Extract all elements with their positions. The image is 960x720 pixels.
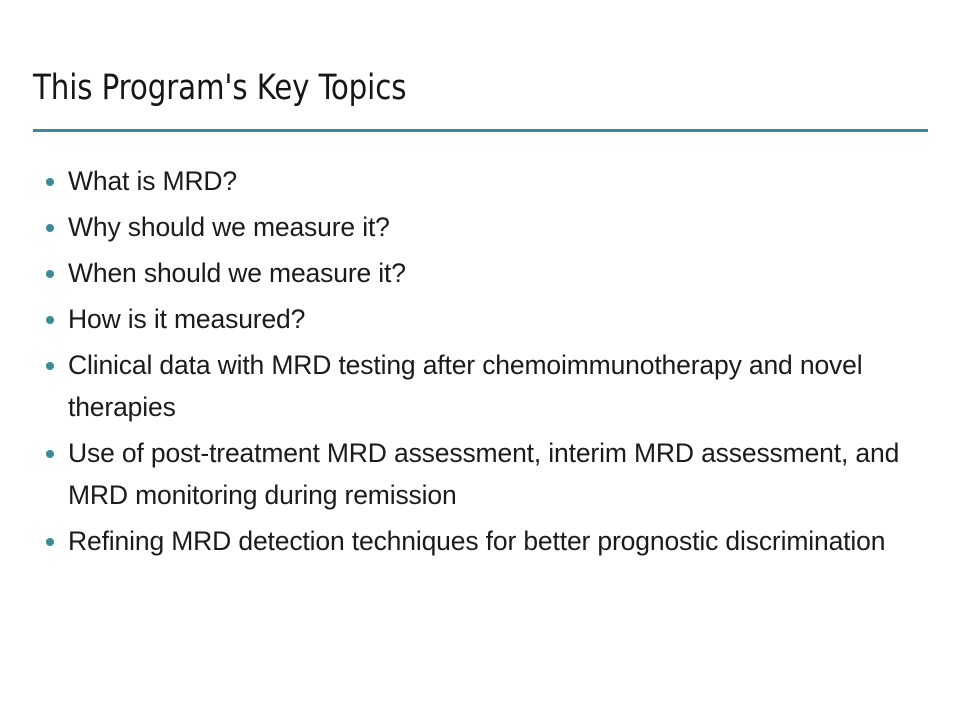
- list-item: Why should we measure it?: [40, 206, 920, 248]
- title-underline-rule: [33, 129, 928, 132]
- bullet-list: What is MRD? Why should we measure it? W…: [40, 160, 920, 566]
- title-block: This Program's Key Topics: [33, 66, 928, 110]
- list-item-label: Refining MRD detection techniques for be…: [68, 520, 920, 562]
- list-item-label: When should we measure it?: [68, 252, 920, 294]
- bullet-dot-icon: [46, 224, 54, 232]
- list-item-label: Clinical data with MRD testing after che…: [68, 344, 920, 428]
- bullet-dot-icon: [46, 316, 54, 324]
- list-item-label: What is MRD?: [68, 160, 920, 202]
- list-item: What is MRD?: [40, 160, 920, 202]
- bullet-dot-icon: [46, 538, 54, 546]
- list-item: When should we measure it?: [40, 252, 920, 294]
- list-item-label: Why should we measure it?: [68, 206, 920, 248]
- list-item: Clinical data with MRD testing after che…: [40, 344, 920, 428]
- bullet-dot-icon: [46, 362, 54, 370]
- bullet-dot-icon: [46, 178, 54, 186]
- list-item: Use of post-treatment MRD assessment, in…: [40, 432, 920, 516]
- slide-canvas: This Program's Key Topics What is MRD? W…: [0, 0, 960, 720]
- page-title: This Program's Key Topics: [33, 66, 865, 110]
- list-item: How is it measured?: [40, 298, 920, 340]
- bullet-dot-icon: [46, 270, 54, 278]
- list-item-label: Use of post-treatment MRD assessment, in…: [68, 432, 920, 516]
- list-item-label: How is it measured?: [68, 298, 920, 340]
- list-item: Refining MRD detection techniques for be…: [40, 520, 920, 562]
- bullet-dot-icon: [46, 450, 54, 458]
